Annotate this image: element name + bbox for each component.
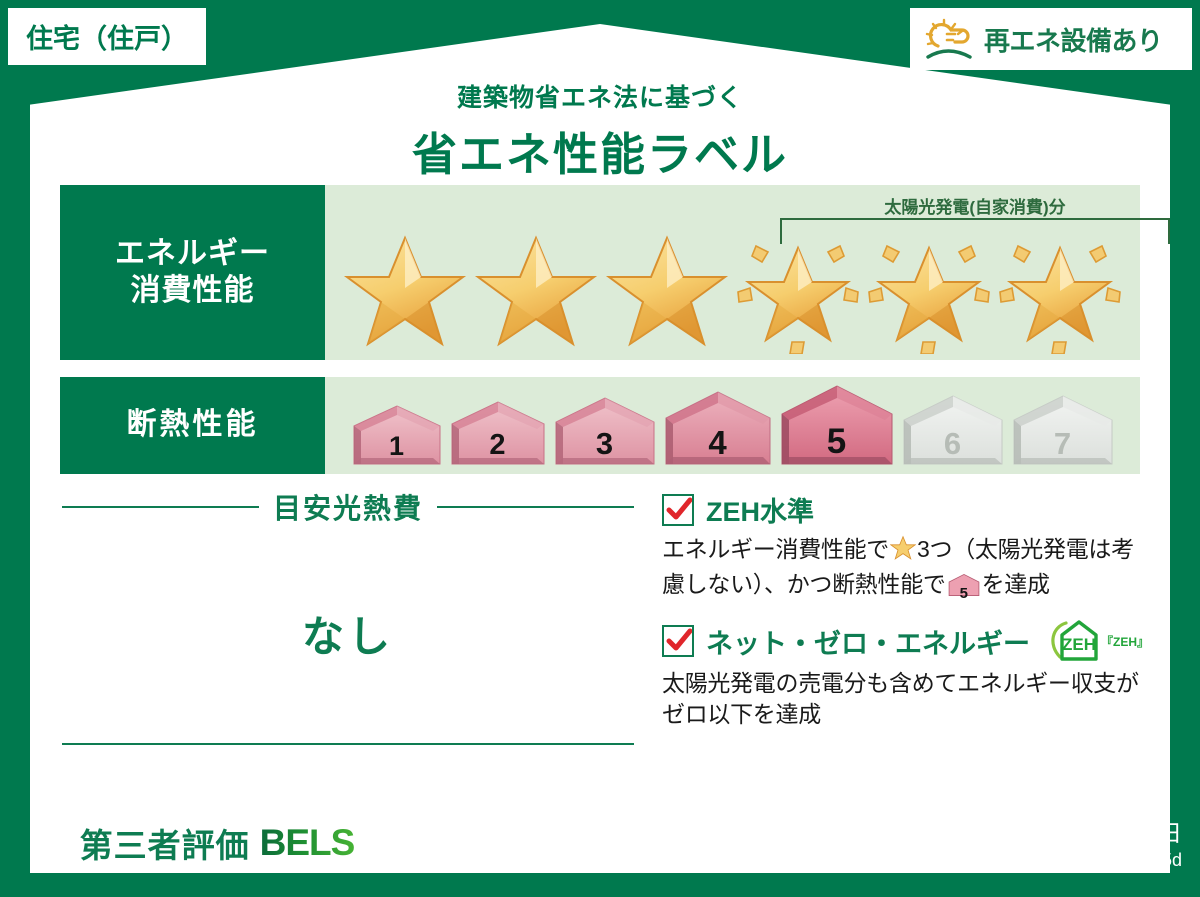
- rule-right: [437, 506, 634, 508]
- label-main-title: 省エネ性能ラベル: [0, 118, 1200, 183]
- dwelling-type-badge: 住宅（住戸）: [8, 8, 206, 65]
- energy-label-line2: 消費性能: [131, 273, 255, 310]
- claim-zeh-standard-description: エネルギー消費性能で3つ（太陽光発電は考慮しない）、かつ断熱性能で5を達成: [662, 534, 1142, 605]
- insulation-level-value: 4: [662, 424, 774, 462]
- insulation-level-value: 2: [448, 429, 548, 462]
- claim-zeh-standard-title: ZEH水準: [706, 490, 814, 529]
- desc-text-part1: エネルギー消費性能で: [662, 536, 889, 562]
- utility-cost-bottom-rule: [62, 743, 634, 745]
- bels-energy-label: 住宅（住戸） 再エネ設備あり 建築物省エネ法に基づく 省エネ性能ラベル: [0, 0, 1200, 897]
- evaluation-date: 評価日 2026年1月23日: [948, 814, 1182, 848]
- zeh-mark-text: 『ZEH』: [1101, 633, 1149, 650]
- insulation-level-4: 4: [662, 388, 774, 468]
- insulation-level-value: 5: [778, 422, 896, 462]
- star-icon-solar: [736, 230, 860, 354]
- insulation-level-3: 3: [552, 394, 658, 468]
- energy-label-line1: エネルギー: [115, 236, 270, 273]
- energy-star-rating: 太陽光発電(自家消費)分: [325, 185, 1140, 360]
- utility-cost-value: なし: [62, 603, 634, 664]
- insulation-level-value: 1: [350, 431, 444, 462]
- renewable-equipment-badge: 再エネ設備あり: [910, 8, 1192, 70]
- solar-bracket-label: 太陽光発電(自家消費)分: [780, 193, 1170, 218]
- star-icon: [605, 230, 729, 354]
- utility-cost-header: 目安光熱費: [62, 487, 634, 527]
- zeh-logo: ZEH 『ZEH』: [1046, 619, 1149, 663]
- dwelling-type-label: 住宅（住戸）: [26, 17, 188, 56]
- star-icon-solar: [998, 230, 1122, 354]
- insulation-level-value: 3: [552, 426, 658, 462]
- insulation-level-6: 6: [900, 392, 1006, 468]
- label-footer: 第三者評価 BELS さいたま市北区別所町2期2棟 1号棟-16075040-0…: [0, 802, 1200, 897]
- bels-jp-text: 第三者評価: [80, 819, 250, 867]
- bels-logo-box: 第三者評価 BELS: [32, 816, 402, 870]
- star-icon: [474, 230, 598, 354]
- claim-net-zero-energy-description: 太陽光発電の売電分も含めてエネルギー収支がゼロ以下を達成: [662, 668, 1142, 729]
- star-icon: [343, 230, 467, 354]
- checkbox-checked-icon: [662, 494, 694, 526]
- insulation-level-1: 1: [350, 402, 444, 468]
- insulation-label-text: 断熱性能: [127, 407, 259, 444]
- desc-text-part3: を達成: [982, 571, 1050, 597]
- insulation-badge-inline: 5: [948, 572, 980, 606]
- claim-zeh-standard-header: ZEH水準: [662, 490, 1142, 529]
- insulation-performance-label: 断熱性能: [60, 377, 325, 474]
- claim-zeh-standard: ZEH水準 エネルギー消費性能で3つ（太陽光発電は考慮しない）、かつ断熱性能で5…: [662, 490, 1142, 605]
- rule-left: [62, 506, 259, 508]
- insulation-level-value: 7: [1010, 426, 1116, 462]
- star-icon-inline: [890, 540, 916, 566]
- evaluation-id: 0bf22b3d-126d-425d: [948, 850, 1182, 871]
- svg-text:ZEH: ZEH: [1062, 635, 1096, 654]
- renewable-equipment-label: 再エネ設備あり: [984, 21, 1163, 58]
- insulation-badge-inline-value: 5: [948, 584, 980, 604]
- zeh-claims-panel: ZEH水準 エネルギー消費性能で3つ（太陽光発電は考慮しない）、かつ断熱性能で5…: [662, 490, 1142, 743]
- solar-sun-icon: [922, 16, 978, 62]
- insulation-level-7: 7: [1010, 392, 1116, 468]
- label-title-block: 建築物省エネ法に基づく 省エネ性能ラベル: [0, 78, 1200, 183]
- checkbox-checked-icon: [662, 625, 694, 657]
- claim-net-zero-energy-header: ネット・ゼロ・エネルギー ZEH 『ZEH』: [662, 619, 1142, 663]
- claim-net-zero-energy-title: ネット・ゼロ・エネルギー: [706, 622, 1030, 661]
- energy-performance-label: エネルギー 消費性能: [60, 185, 325, 360]
- evaluation-info: 評価日 2026年1月23日 0bf22b3d-126d-425d: [948, 814, 1182, 871]
- insulation-level-scale: 1 2 3: [325, 377, 1140, 474]
- insulation-level-2: 2: [448, 398, 548, 468]
- energy-performance-row: エネルギー 消費性能 太陽光発電(自家消費)分: [60, 185, 1140, 360]
- insulation-performance-row: 断熱性能 1: [60, 377, 1140, 474]
- star-icon-solar: [867, 230, 991, 354]
- property-address: さいたま市北区別所町2期2棟 1号棟-16075040-0001: [412, 828, 916, 858]
- insulation-level-value: 6: [900, 426, 1006, 462]
- bels-en-text: BELS: [260, 822, 355, 864]
- insulation-level-5: 5: [778, 382, 896, 468]
- claim-net-zero-energy: ネット・ゼロ・エネルギー ZEH 『ZEH』 太陽光発電の売電分も含めてエネルギ…: [662, 619, 1142, 729]
- label-subtitle: 建築物省エネ法に基づく: [0, 78, 1200, 114]
- utility-cost-title: 目安光熱費: [273, 487, 423, 527]
- utility-cost-panel: 目安光熱費 なし: [62, 487, 634, 745]
